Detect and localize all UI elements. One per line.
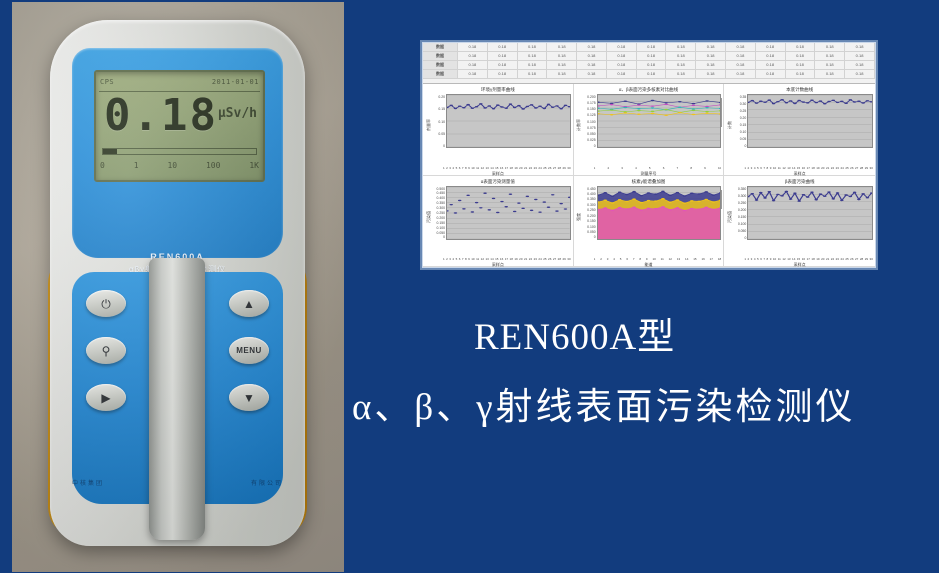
y-tick: 0.150 [437, 221, 446, 225]
lcd-scale-tick: 1K [249, 161, 259, 170]
lcd-scale-tick: 10 [167, 161, 177, 170]
software-report-panel: 数据0.180.180.180.180.180.180.180.180.180.… [422, 42, 876, 268]
y-tick: 0.250 [587, 208, 596, 212]
y-tick: 0.250 [738, 201, 747, 205]
y-tick: 0.050 [437, 231, 446, 235]
device-footer-right: 有限公司 [251, 478, 283, 487]
x-axis-label: 能道 [574, 262, 724, 268]
up-button[interactable]: ▲ [229, 290, 269, 317]
down-button[interactable]: ▼ [229, 384, 269, 411]
y-tick: 0.050 [587, 132, 596, 136]
lcd-scale-labels: 01101001K [100, 158, 259, 172]
y-tick: 0.125 [587, 113, 596, 117]
y-tick: 0.300 [738, 194, 747, 198]
table-cell: 0.18 [607, 61, 637, 69]
table-cell: 0.18 [845, 70, 875, 78]
y-tick: 0 [594, 235, 596, 239]
table-cell: 0.18 [458, 70, 488, 78]
table-cell: 0.18 [577, 52, 607, 60]
y-tick: 0.100 [587, 120, 596, 124]
table-cell: 0.18 [666, 70, 696, 78]
title-line-2: α、β、γ射线表面污染检测仪 [352, 384, 932, 432]
y-tick: 0.20 [740, 116, 747, 120]
table-cell: 0.18 [696, 52, 726, 60]
table-cell: 0.18 [458, 43, 488, 51]
table-cell: 0.18 [726, 70, 756, 78]
lcd-status-bar: CPS 2011-01-01 [100, 74, 259, 90]
table-cell: 0.18 [696, 43, 726, 51]
y-tick: 0.450 [587, 187, 596, 191]
y-tick: 0.100 [437, 226, 446, 230]
y-tick: 0.400 [587, 192, 596, 196]
plot-canvas [597, 186, 722, 240]
y-tick: 0.050 [587, 230, 596, 234]
table-cell: 0.18 [577, 43, 607, 51]
y-tick: 0.350 [587, 197, 596, 201]
table-cell: 0.18 [786, 70, 816, 78]
y-tick: 0.150 [738, 215, 747, 219]
table-cell: 0.18 [756, 52, 786, 60]
data-table-header: 数据0.180.180.180.180.180.180.180.180.180.… [423, 43, 875, 84]
table-row: 数据0.180.180.180.180.180.180.180.180.180.… [423, 52, 875, 61]
play-button[interactable]: ▶ [86, 384, 126, 411]
y-axis-ticks: 0.5000.4500.4000.3500.3000.2500.2000.150… [432, 186, 446, 248]
device-front-upper: CPS 2011-01-01 0.18 μSv/h 01101001K [72, 48, 283, 258]
table-cell: 0.18 [607, 52, 637, 60]
y-tick: 0.500 [437, 187, 446, 191]
y-tick: 0.150 [587, 219, 596, 223]
device-footer-left: 中核集团 [72, 478, 104, 487]
plot-area: 计数率0.2000.1750.1500.1250.1000.0750.0500.… [576, 94, 722, 156]
table-row: 数据0.180.180.180.180.180.180.180.180.180.… [423, 43, 875, 52]
table-row-label: 数据 [423, 43, 458, 51]
y-tick: 0.10 [740, 130, 747, 134]
y-tick: 0.050 [738, 229, 747, 233]
table-cell: 0.18 [815, 70, 845, 78]
y-axis-ticks: 0.4500.4000.3500.3000.2500.2000.1500.100… [583, 186, 597, 248]
table-cell: 0.18 [786, 43, 816, 51]
table-cell: 0.18 [756, 43, 786, 51]
table-row-label: 数据 [423, 52, 458, 60]
chart-title: α、β表面污染多核素对比曲线 [576, 87, 722, 93]
table-cell: 0.18 [518, 43, 548, 51]
plot-area: 计数0.350.300.250.200.150.100.050 [726, 94, 873, 156]
chart-cell: α、β表面污染多核素对比曲线系列1系列2系列3系列4系列5计数率0.2000.1… [574, 84, 725, 176]
plot-area: 强度0.4500.4000.3500.3000.2500.2000.1500.1… [576, 186, 722, 248]
y-tick: 0.175 [587, 101, 596, 105]
table-cell: 0.18 [488, 52, 518, 60]
table-cell: 0.18 [786, 52, 816, 60]
table-cell: 0.18 [488, 61, 518, 69]
menu-button[interactable]: MENU [229, 337, 269, 364]
slide-canvas: CPS 2011-01-01 0.18 μSv/h 01101001K REN6… [0, 0, 939, 573]
product-photo: CPS 2011-01-01 0.18 μSv/h 01101001K REN6… [12, 2, 344, 572]
plot-canvas [446, 94, 571, 148]
y-tick: 0.100 [587, 225, 596, 229]
y-axis-label: 计数 [726, 94, 733, 156]
y-tick: 0 [744, 144, 746, 148]
y-tick: 0.05 [438, 132, 445, 136]
y-tick: 0.250 [437, 211, 446, 215]
chart-cell: 核素γ能谱叠加图系列1系列2系列3强度0.4500.4000.3500.3000… [574, 176, 725, 268]
x-axis-label: 采样点 [423, 262, 573, 268]
y-tick: 0.200 [437, 216, 446, 220]
x-axis-label: 采样点 [724, 262, 875, 268]
hand-strap [149, 258, 205, 540]
y-axis-label: 剂量率 [425, 94, 432, 156]
table-cell: 0.18 [815, 61, 845, 69]
chart-cell: α表面污染测量值污染值0.5000.4500.4000.3500.3000.25… [423, 176, 574, 268]
y-tick: 0.200 [587, 95, 596, 99]
y-tick: 0.150 [587, 107, 596, 111]
y-axis-label: 污染值 [425, 186, 432, 248]
slide-title-block: REN600A型 α、β、γ射线表面污染检测仪 [352, 316, 932, 432]
table-cell: 0.18 [845, 61, 875, 69]
table-cell: 0.18 [815, 43, 845, 51]
search-button[interactable]: ⚲ [86, 337, 126, 364]
table-cell: 0.18 [488, 43, 518, 51]
table-cell: 0.18 [845, 43, 875, 51]
lcd-display: CPS 2011-01-01 0.18 μSv/h 01101001K [94, 70, 265, 182]
y-tick: 0.15 [438, 107, 445, 111]
y-tick: 0 [443, 144, 445, 148]
lcd-scale-tick: 1 [134, 161, 139, 170]
plot-canvas [446, 186, 571, 240]
table-cell: 0.18 [577, 61, 607, 69]
lcd-scale-tick: 0 [100, 161, 105, 170]
table-cell: 0.18 [518, 52, 548, 60]
y-tick: 0.350 [437, 201, 446, 205]
table-cell: 0.18 [547, 52, 577, 60]
y-tick: 0.025 [587, 138, 596, 142]
table-cell: 0.18 [726, 52, 756, 60]
table-cell: 0.18 [756, 70, 786, 78]
y-tick: 0.300 [437, 206, 446, 210]
table-cell: 0.18 [666, 52, 696, 60]
plot-canvas [597, 94, 722, 148]
chart-title: β表面污染曲线 [726, 179, 873, 185]
table-cell: 0.18 [845, 52, 875, 60]
table-row-label: 数据 [423, 70, 458, 78]
y-axis-ticks: 0.350.300.250.200.150.100.050 [733, 94, 747, 156]
power-button[interactable]: ⏻ [86, 290, 126, 317]
table-row: 数据0.180.180.180.180.180.180.180.180.180.… [423, 61, 875, 70]
y-tick: 0.075 [587, 126, 596, 130]
y-tick: 0.30 [740, 102, 747, 106]
chart-cell: β表面污染曲线污染值0.3500.3000.2500.2000.1500.100… [724, 176, 875, 268]
y-tick: 0.15 [740, 123, 747, 127]
y-axis-ticks: 0.3500.3000.2500.2000.1500.1000.0500 [733, 186, 747, 248]
title-line-1: REN600A型 [352, 316, 932, 360]
table-cell: 0.18 [786, 61, 816, 69]
table-cell: 0.18 [756, 61, 786, 69]
table-cell: 0.18 [666, 61, 696, 69]
table-cell: 0.18 [726, 43, 756, 51]
table-cell: 0.18 [815, 52, 845, 60]
y-tick: 0.200 [738, 208, 747, 212]
chart-grid: 环境γ剂量率曲线剂量率0.200.150.100.050123456789101… [423, 84, 875, 267]
radiation-detector-device: CPS 2011-01-01 0.18 μSv/h 01101001K REN6… [50, 20, 305, 546]
table-cell: 0.18 [696, 61, 726, 69]
chart-title: 环境γ剂量率曲线 [425, 87, 571, 93]
plot-area: 剂量率0.200.150.100.050 [425, 94, 571, 156]
y-tick: 0.400 [437, 196, 446, 200]
table-cell: 0.18 [458, 61, 488, 69]
table-cell: 0.18 [666, 43, 696, 51]
table-cell: 0.18 [518, 61, 548, 69]
table-row-label: 数据 [423, 61, 458, 69]
table-row: 数据0.180.180.180.180.180.180.180.180.180.… [423, 70, 875, 79]
chart-title: 核素γ能谱叠加图 [576, 179, 722, 185]
table-cell: 0.18 [547, 70, 577, 78]
plot-canvas [747, 186, 873, 240]
table-cell: 0.18 [637, 70, 667, 78]
lcd-status-left: CPS [100, 78, 114, 86]
y-tick: 0 [443, 235, 445, 239]
y-axis-label: 强度 [576, 186, 583, 248]
y-axis-ticks: 0.2000.1750.1500.1250.1000.0750.0500.025… [583, 94, 597, 156]
y-tick: 0.05 [740, 137, 747, 141]
y-axis-label: 污染值 [726, 186, 733, 248]
table-cell: 0.18 [637, 52, 667, 60]
table-cell: 0.18 [607, 43, 637, 51]
y-axis-label: 计数率 [576, 94, 583, 156]
y-tick: 0.450 [437, 191, 446, 195]
chart-title: α表面污染测量值 [425, 179, 571, 185]
y-tick: 0.200 [587, 214, 596, 218]
lcd-level-bar [102, 148, 257, 155]
table-cell: 0.18 [547, 43, 577, 51]
table-cell: 0.18 [637, 61, 667, 69]
plot-canvas [747, 94, 873, 148]
y-tick: 0.100 [738, 222, 747, 226]
lcd-status-right: 2011-01-01 [212, 78, 259, 86]
plot-area: 污染值0.5000.4500.4000.3500.3000.2500.2000.… [425, 186, 571, 248]
y-tick: 0.300 [587, 203, 596, 207]
table-cell: 0.18 [637, 43, 667, 51]
y-axis-ticks: 0.200.150.100.050 [432, 94, 446, 156]
y-tick: 0 [744, 236, 746, 240]
y-tick: 0 [594, 144, 596, 148]
lcd-scale-tick: 100 [206, 161, 220, 170]
table-cell: 0.18 [488, 70, 518, 78]
lcd-reading-value: 0.18 [104, 94, 218, 138]
table-cell: 0.18 [696, 70, 726, 78]
y-tick: 0.20 [438, 95, 445, 99]
lcd-reading-unit: μSv/h [218, 106, 257, 121]
chart-cell: 环境γ剂量率曲线剂量率0.200.150.100.050123456789101… [423, 84, 574, 176]
table-cell: 0.18 [726, 61, 756, 69]
y-tick: 0.25 [740, 109, 747, 113]
table-cell: 0.18 [458, 52, 488, 60]
table-cell: 0.18 [518, 70, 548, 78]
chart-cell: 本底计数曲线计数0.350.300.250.200.150.100.050123… [724, 84, 875, 176]
y-tick: 0.350 [738, 187, 747, 191]
chart-title: 本底计数曲线 [726, 87, 873, 93]
y-tick: 0.35 [740, 95, 747, 99]
plot-area: 污染值0.3500.3000.2500.2000.1500.1000.0500 [726, 186, 873, 248]
table-cell: 0.18 [547, 61, 577, 69]
y-tick: 0.10 [438, 120, 445, 124]
table-cell: 0.18 [607, 70, 637, 78]
table-cell: 0.18 [577, 70, 607, 78]
